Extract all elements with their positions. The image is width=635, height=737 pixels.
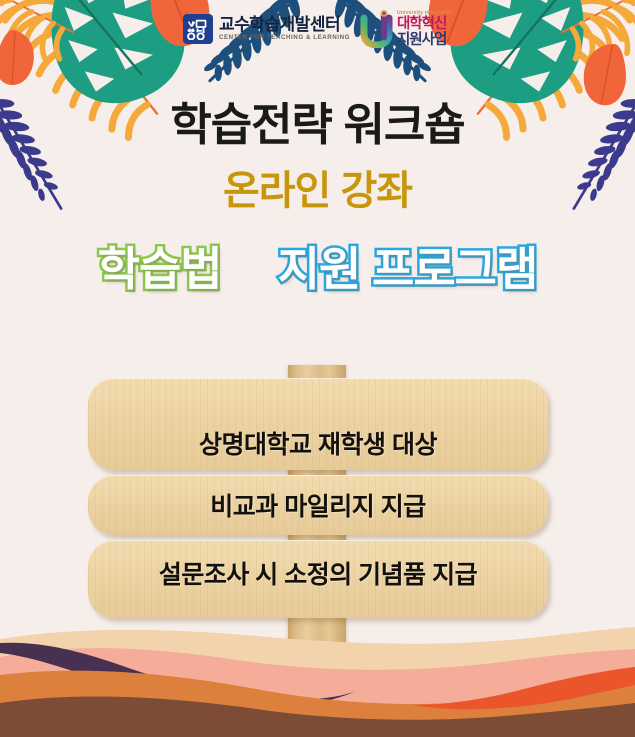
signboard-plank-2-text: 비교과 마일리지 지급 <box>210 487 425 523</box>
ctl-logo: 교수학습개발센터 CENTER FOR TEACHING & LEARNING <box>183 14 350 44</box>
poster-main-title: 학습전략 워크숍 <box>0 88 635 153</box>
sangmyung-university-emblem-icon <box>183 14 213 44</box>
header-logo-bar: 교수학습개발센터 CENTER FOR TEACHING & LEARNING <box>0 6 635 52</box>
keyword-support-program: 지원 프로그램 <box>278 244 538 295</box>
ctl-english-name: CENTER FOR TEACHING & LEARNING <box>219 35 350 41</box>
bottom-wave-decoration <box>0 617 635 737</box>
uis-logo: University innovation 대학혁신 지원사업 <box>360 10 452 48</box>
signboard-plank-2: 비교과 마일리지 지급 <box>88 475 548 535</box>
poster-canvas: 교수학습개발센터 CENTER FOR TEACHING & LEARNING <box>0 0 635 737</box>
university-innovation-ui-mark-icon <box>360 10 394 48</box>
ctl-korean-name: 교수학습개발센터 <box>219 16 350 33</box>
signboard-plank-3: 설문조사 시 소정의 기념품 지급 <box>88 540 548 618</box>
uis-korean-line2: 지원사업 <box>397 33 452 48</box>
signboard-plank-1-text: 상명대학교 재학생 대상 <box>199 425 437 461</box>
keyword-learning-method: 학습법 <box>98 244 222 295</box>
signboard-plank-3-text: 설문조사 시 소정의 기념품 지급 <box>159 555 477 591</box>
uis-korean-line1: 대학혁신 <box>397 17 452 32</box>
keyword-row: 학습법 지원 프로그램 <box>0 244 635 295</box>
poster-subtitle: 온라인 강좌 <box>0 158 635 216</box>
uis-logo-text: University innovation 대학혁신 지원사업 <box>397 11 452 47</box>
signboard-plank-1: 상명대학교 재학생 대상 <box>88 378 548 470</box>
wooden-signboard: 상명대학교 재학생 대상 비교과 마일리지 지급 설문조사 시 소정의 기념품 … <box>0 365 635 655</box>
ctl-logo-text: 교수학습개발센터 CENTER FOR TEACHING & LEARNING <box>219 16 350 41</box>
